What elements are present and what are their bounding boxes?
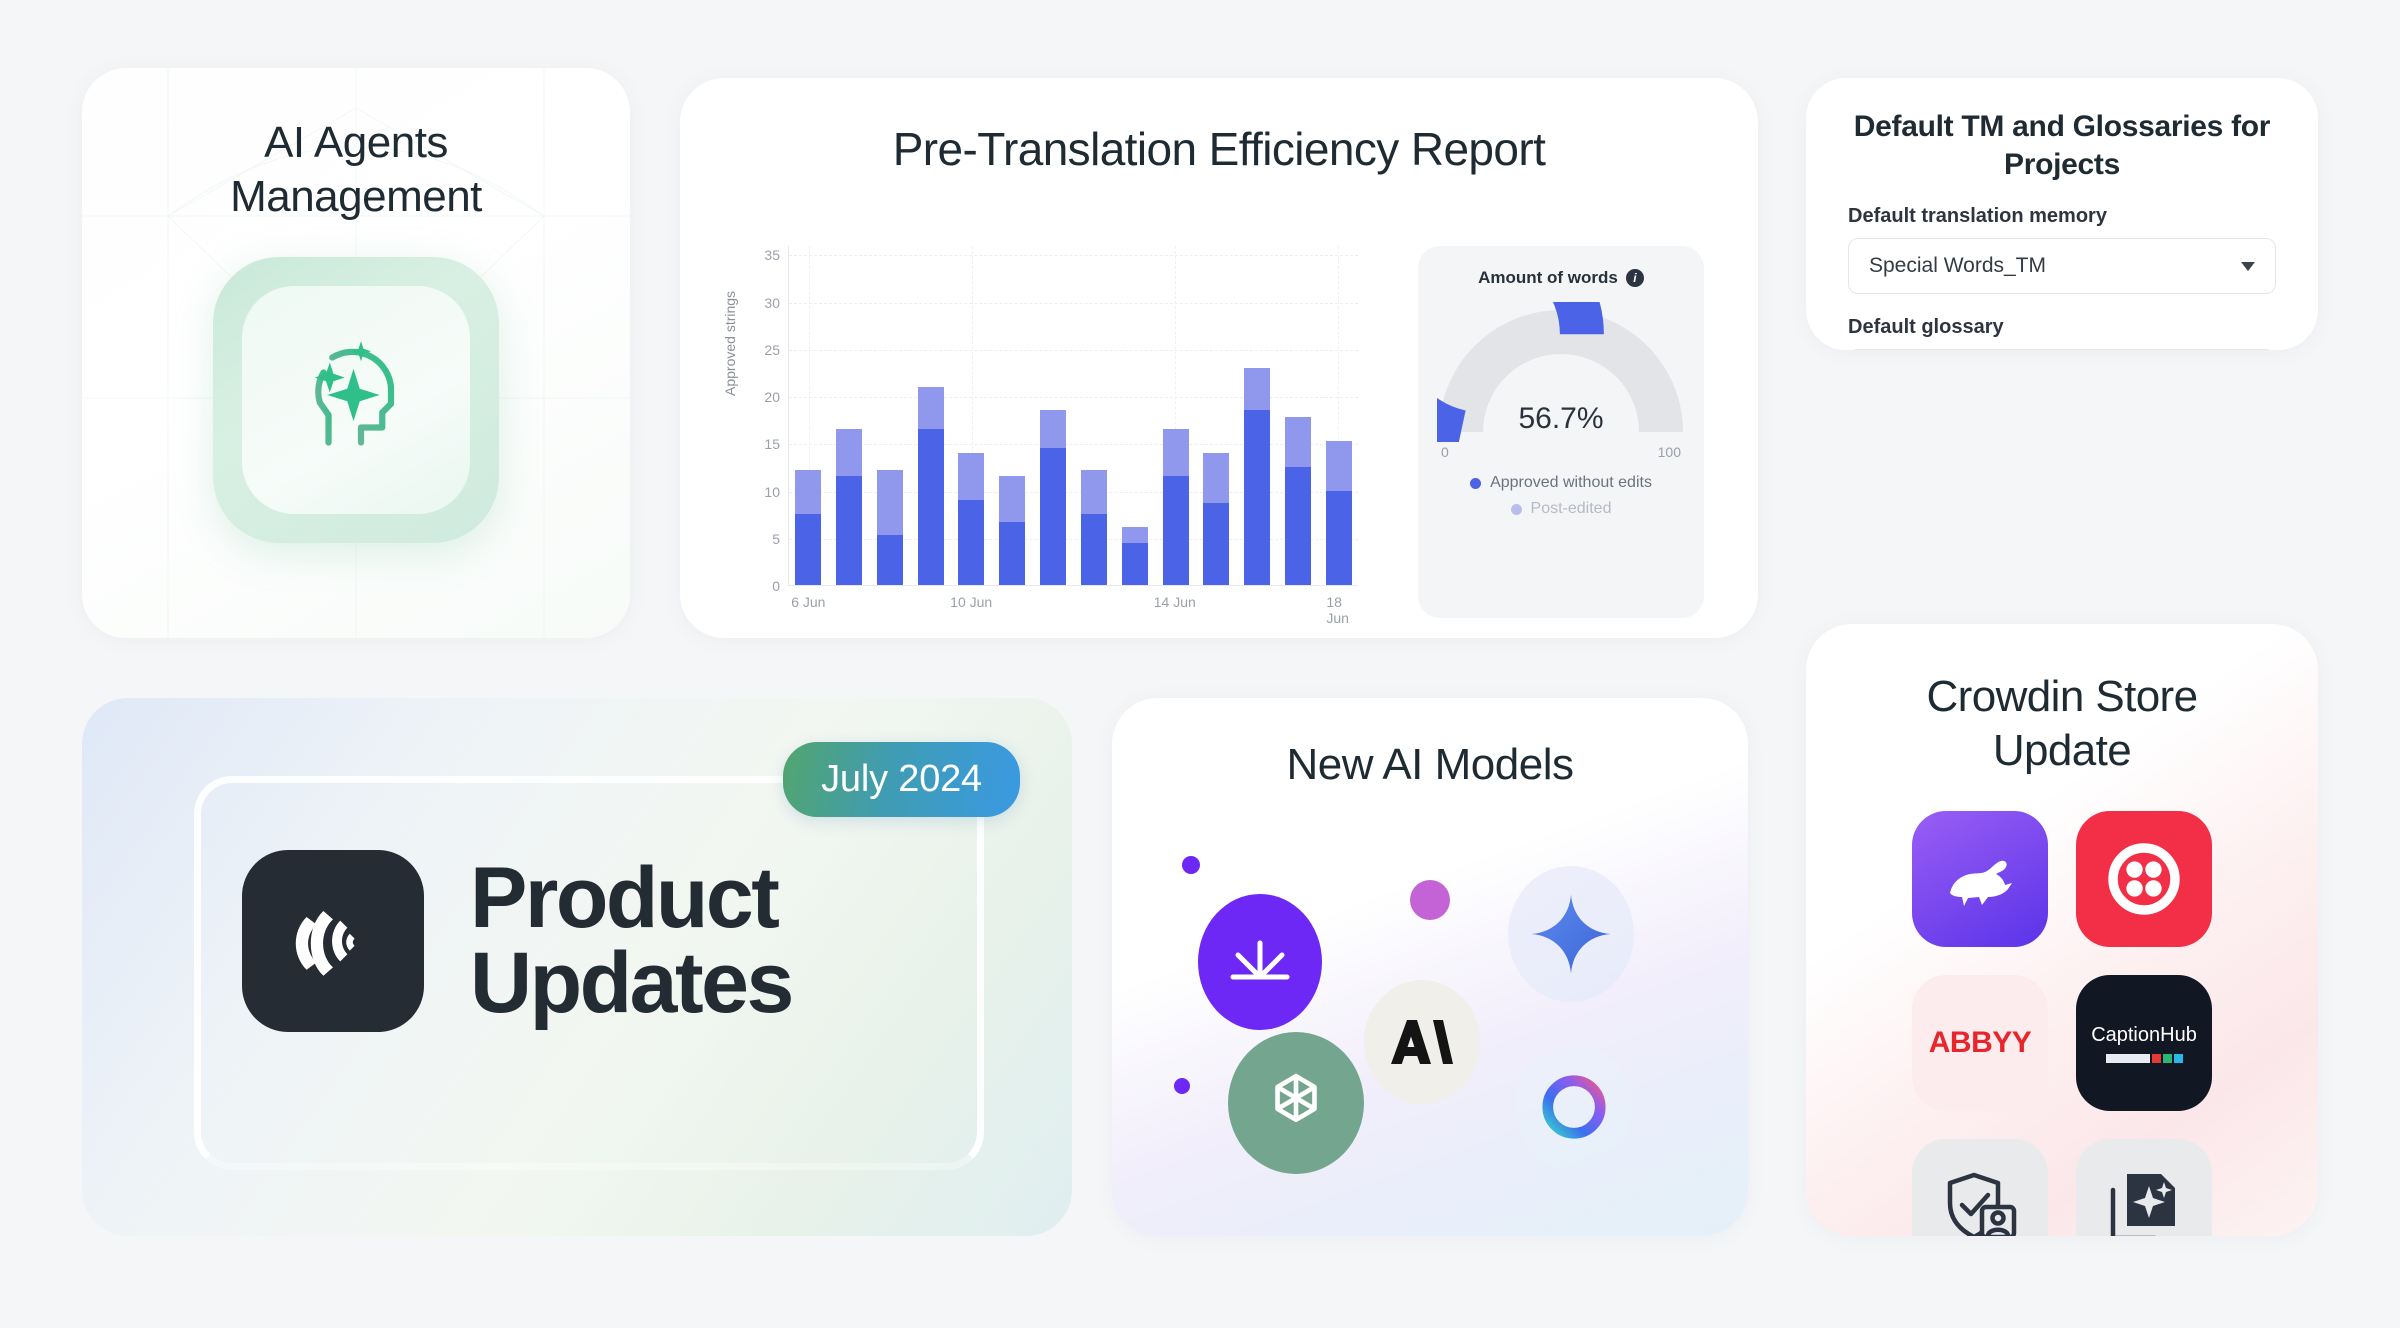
twilio-app-icon[interactable] <box>2076 811 2212 947</box>
gauge-legend-dot <box>1511 504 1522 515</box>
chart-bar-segment-approved <box>1163 476 1189 585</box>
product-updates-content: Product Updates <box>242 850 792 1032</box>
default-tm-glossaries-card[interactable]: Default TM and Glossaries for Projects D… <box>1806 78 2318 350</box>
chart-bar-segment-approved <box>1122 543 1148 585</box>
chart-bar-segment-post-edited <box>1244 368 1270 411</box>
pre-translation-efficiency-report-card[interactable]: Pre-Translation Efficiency Report Approv… <box>680 78 1758 638</box>
chart-bar[interactable] <box>1244 368 1270 585</box>
chart-bar[interactable] <box>836 429 862 585</box>
chart-y-tick: 30 <box>740 295 780 311</box>
chart-y-axis-ticks: 05101520253035 <box>740 246 780 586</box>
gemini-sparkle-logo-icon[interactable] <box>1508 866 1634 1002</box>
chart-bar-segment-post-edited <box>999 476 1025 521</box>
new-ai-models-card[interactable]: New AI Models <box>1112 698 1748 1236</box>
chart-bar[interactable] <box>918 387 944 585</box>
document-sparkle-app-icon[interactable] <box>2076 1139 2212 1236</box>
chart-bar-segment-post-edited <box>1040 410 1066 448</box>
chart-y-tick: 15 <box>740 436 780 452</box>
gauge-dial: 56.7% <box>1437 302 1685 442</box>
default-translation-memory-label: Default translation memory <box>1848 205 2276 228</box>
crowdin-logo-svg <box>273 881 393 1001</box>
chart-bar-segment-post-edited <box>1203 453 1229 503</box>
chart-y-axis-label: Approved strings <box>722 291 738 396</box>
chevron-down-icon[interactable] <box>2241 262 2255 271</box>
sagemaker-logo-icon[interactable] <box>1198 894 1322 1030</box>
gemini-logo-svg <box>1528 891 1614 977</box>
chart-y-tick: 5 <box>740 531 780 547</box>
abbyy-wordmark: ABBYY <box>1929 1026 2032 1060</box>
ai-agents-management-card[interactable]: AI Agents Management <box>82 68 630 638</box>
gauge-legend-label: Approved without edits <box>1490 474 1652 492</box>
chart-bar-segment-approved <box>1326 491 1352 585</box>
twilio-icon-svg <box>2101 836 2187 922</box>
chart-bar-segment-approved <box>836 476 862 585</box>
default-glossary-select[interactable]: Secret Book_G <box>1848 349 2276 350</box>
chart-bar-segment-post-edited <box>1326 441 1352 491</box>
chart-bar-segment-post-edited <box>877 470 903 535</box>
chart-y-tick: 10 <box>740 484 780 500</box>
chart-bar[interactable] <box>1163 429 1189 585</box>
crowdin-store-title-line2: Update <box>1993 726 2131 775</box>
document-sparkle-icon-svg <box>2105 1168 2183 1236</box>
default-translation-memory-field: Default translation memory Special Words… <box>1848 205 2276 294</box>
release-month-badge: July 2024 <box>783 742 1020 817</box>
default-glossary-field: Default glossary Secret Book_G <box>1848 316 2276 350</box>
crowdin-store-title-line1: Crowdin Store <box>1927 672 2198 721</box>
default-translation-memory-value: Special Words_TM <box>1869 254 2046 278</box>
chart-bar-segment-approved <box>1244 410 1270 585</box>
product-updates-card[interactable]: July 2024 Product Updates <box>82 698 1072 1236</box>
mistral-ring-logo-icon[interactable] <box>1516 1044 1632 1170</box>
chart-bar-segment-approved <box>958 500 984 585</box>
chart-bar-segment-approved <box>877 535 903 585</box>
crowdin-store-title: Crowdin Store Update <box>1806 670 2318 777</box>
chart-x-tick: 10 Jun <box>950 594 992 610</box>
chart-bar-segment-post-edited <box>795 470 821 514</box>
chart-bar-segment-post-edited <box>1122 527 1148 543</box>
chart-bar[interactable] <box>1285 417 1311 585</box>
chart-bar[interactable] <box>1081 470 1107 585</box>
ai-agents-title: AI Agents Management <box>230 116 482 223</box>
gauge-legend-item[interactable]: Post-edited <box>1511 500 1612 518</box>
chart-plot-area <box>788 246 1358 586</box>
ai-head-sparkle-icon <box>281 325 431 475</box>
amount-of-words-gauge-panel[interactable]: Amount of words i 56.7% 0 100 Approved w… <box>1418 246 1704 618</box>
captionhub-bar-marks <box>2106 1054 2183 1063</box>
chart-bar-segment-post-edited <box>836 429 862 476</box>
anthropic-logo-svg <box>1391 1016 1453 1068</box>
tm-card-title: Default TM and Glossaries for Projects <box>1848 108 2276 183</box>
chart-bar-segment-approved <box>918 429 944 585</box>
chart-x-axis-ticks: 6 Jun10 Jun14 Jun18 Jun <box>788 594 1358 618</box>
captionhub-app-icon[interactable]: CaptionHub <box>2076 975 2212 1111</box>
default-translation-memory-select[interactable]: Special Words_TM <box>1848 238 2276 294</box>
gauge-legend: Approved without editsPost-edited <box>1470 474 1652 518</box>
ai-agents-title-line1: AI Agents <box>264 118 448 167</box>
store-apps-grid: ABBYY CaptionHub <box>1912 811 2212 1236</box>
openai-logo-svg <box>1254 1061 1338 1145</box>
chart-bar[interactable] <box>1122 527 1148 585</box>
chart-bar-segment-approved <box>1285 467 1311 585</box>
chart-y-tick: 35 <box>740 247 780 263</box>
product-updates-title-line1: Product <box>470 856 792 941</box>
chart-bar[interactable] <box>958 453 984 585</box>
sagemaker-logo-svg <box>1225 937 1295 987</box>
captionhub-wordmark: CaptionHub <box>2091 1024 2197 1047</box>
gauge-heading-label: Amount of words <box>1478 268 1618 288</box>
product-updates-title: Product Updates <box>470 856 792 1026</box>
chart-bar[interactable] <box>999 476 1025 585</box>
chart-x-tick: 14 Jun <box>1154 594 1196 610</box>
default-glossary-label: Default glossary <box>1848 316 2276 339</box>
chart-bar-segment-approved <box>1081 514 1107 585</box>
shield-id-app-icon[interactable] <box>1912 1139 2048 1236</box>
chart-bar-segment-approved <box>999 522 1025 585</box>
new-ai-models-title: New AI Models <box>1112 740 1748 790</box>
gauge-max-label: 100 <box>1658 444 1681 460</box>
chart-y-tick: 25 <box>740 342 780 358</box>
chart-bar-segment-approved <box>1040 448 1066 585</box>
shield-id-icon-svg <box>1940 1169 2020 1236</box>
chart-bar[interactable] <box>877 470 903 585</box>
anthropic-logo-icon[interactable] <box>1364 980 1480 1104</box>
chart-bar[interactable] <box>1326 441 1352 585</box>
bar-chart[interactable]: Approved strings 05101520253035 6 Jun10 … <box>726 246 1366 626</box>
rabbit-app-icon[interactable] <box>1912 811 2048 947</box>
ai-agents-title-line2: Management <box>230 172 482 221</box>
gauge-legend-item[interactable]: Approved without edits <box>1470 474 1652 492</box>
info-icon[interactable]: i <box>1626 269 1644 287</box>
decorative-dot <box>1182 856 1200 874</box>
chart-x-tick: 6 Jun <box>791 594 825 610</box>
chart-bar[interactable] <box>1040 410 1066 585</box>
decorative-dot <box>1410 880 1450 920</box>
gauge-legend-label: Post-edited <box>1531 500 1612 518</box>
gauge-min-label: 0 <box>1441 444 1449 460</box>
gauge-heading: Amount of words i <box>1478 268 1644 288</box>
chart-y-tick: 20 <box>740 389 780 405</box>
chart-x-tick: 18 Jun <box>1326 594 1349 626</box>
ai-agents-icon-tile <box>213 257 499 543</box>
chart-bars[interactable] <box>789 246 1358 585</box>
chart-bar-segment-post-edited <box>1285 417 1311 467</box>
report-title: Pre-Translation Efficiency Report <box>680 122 1758 176</box>
ai-agents-icon-inner <box>242 286 470 514</box>
crowdin-store-update-card[interactable]: Crowdin Store Update ABBYY CaptionHub <box>1806 624 2318 1236</box>
gauge-range-labels: 0 100 <box>1437 444 1685 460</box>
chart-bar-segment-post-edited <box>958 453 984 500</box>
ring-logo-svg <box>1533 1066 1615 1148</box>
chart-y-tick: 0 <box>740 578 780 594</box>
gauge-legend-dot <box>1470 478 1481 489</box>
decorative-dot <box>1174 1078 1190 1094</box>
openai-logo-icon[interactable] <box>1228 1032 1364 1174</box>
rabbit-icon-svg <box>1938 843 2022 915</box>
chart-bar[interactable] <box>795 470 821 585</box>
crowdin-logo-icon <box>242 850 424 1032</box>
chart-bar[interactable] <box>1203 453 1229 585</box>
chart-bar-segment-approved <box>1203 503 1229 585</box>
chart-bar-segment-post-edited <box>1081 470 1107 514</box>
gauge-value-label: 56.7% <box>1437 402 1685 436</box>
chart-bar-segment-approved <box>795 514 821 585</box>
chart-bar-segment-post-edited <box>1163 429 1189 476</box>
abbyy-app-icon[interactable]: ABBYY <box>1912 975 2048 1111</box>
product-updates-title-line2: Updates <box>470 941 792 1026</box>
chart-bar-segment-post-edited <box>918 387 944 430</box>
